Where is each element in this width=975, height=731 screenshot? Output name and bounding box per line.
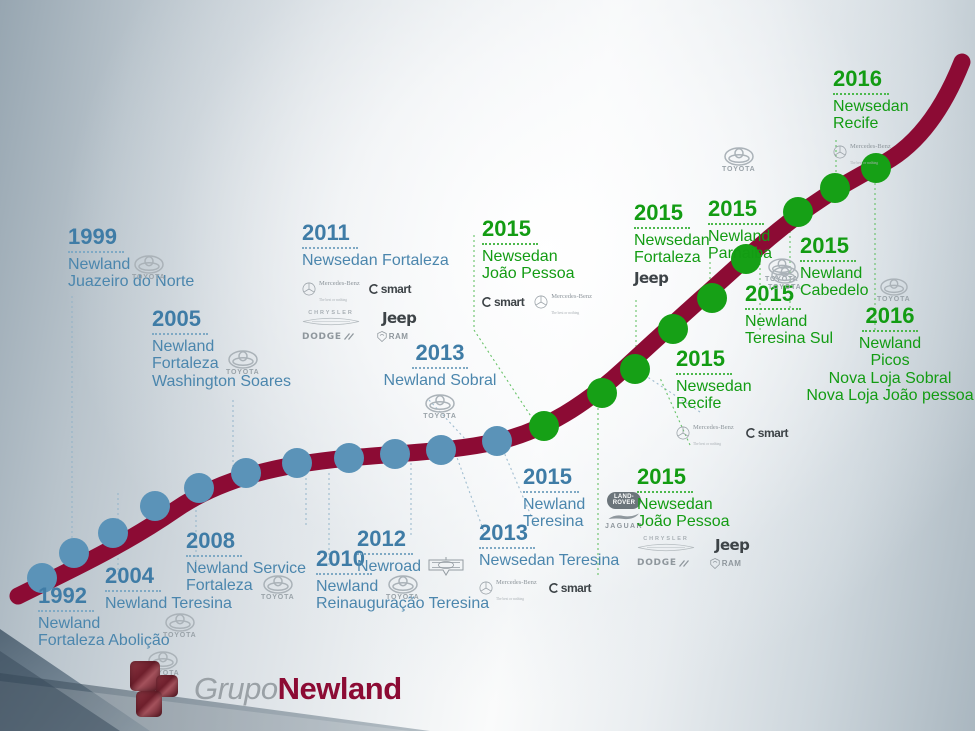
- milestone-divider: [357, 553, 413, 555]
- milestone-divider: [833, 93, 889, 95]
- logo-wordmark: GrupoNewland: [194, 671, 402, 707]
- smart-wordmark: smart: [494, 295, 524, 309]
- milestone-year: 2016: [805, 305, 975, 327]
- logo-mark-icon: [130, 661, 184, 717]
- dodge-wordmark: DODGE: [637, 558, 677, 568]
- toyota-logo-icon: TOYOTA: [722, 147, 756, 173]
- dodge-wordmark: DODGE: [302, 332, 342, 342]
- milestone-year: 2015: [708, 198, 868, 220]
- milestone-divider: [482, 243, 538, 245]
- smart-logo-icon: smart: [746, 426, 788, 440]
- milestone-divider: [38, 610, 94, 612]
- milestone-title: Newsedan Recife: [833, 98, 975, 133]
- toyota-logo-icon: TOYOTA: [423, 394, 457, 420]
- milestone-divider: [708, 223, 764, 225]
- toyota-wordmark: TOYOTA: [261, 594, 295, 601]
- milestone-divider: [186, 555, 242, 557]
- smart-wordmark: smart: [561, 581, 591, 595]
- toyota-wordmark: TOYOTA: [132, 274, 166, 281]
- harley-davidson-logo-icon: [426, 553, 466, 577]
- toyota-wordmark: TOYOTA: [423, 413, 457, 420]
- milestone-brands: TOYOTA: [370, 394, 510, 420]
- mercedes-benz-logo-icon: Mercedes-Benz The best or nothing: [676, 417, 734, 449]
- smart-wordmark: smart: [758, 426, 788, 440]
- milestone-2016-picos[interactable]: 2016 Newland Picos Nova Loja Sobral Nova…: [805, 305, 975, 404]
- milestone-year: 2015: [637, 466, 827, 488]
- milestone-title: Newland Picos Nova Loja Sobral Nova Loja…: [805, 335, 975, 404]
- mercedes-wordmark: Mercedes-Benz The best or nothing: [319, 273, 360, 305]
- chrysler-logo-icon: CHRYSLER: [637, 537, 695, 552]
- mercedes-wordmark: Mercedes-Benz The best or nothing: [693, 417, 734, 449]
- milestone-year: 2015: [800, 235, 960, 257]
- milestone-divider: [634, 227, 690, 229]
- brand-row: CHRYSLER Jeep: [302, 309, 416, 327]
- brand-row: DODGE RAM: [302, 331, 408, 342]
- toyota-logo-icon: TOYOTA: [132, 255, 166, 281]
- toyota-logo-icon: TOYOTA: [261, 575, 295, 601]
- milestone-divider: [479, 547, 535, 549]
- toyota-wordmark: TOYOTA: [386, 594, 420, 601]
- milestone-brands: TOYOTA: [722, 147, 756, 173]
- milestone-divider: [637, 491, 693, 493]
- milestone-brands: TOYOTA: [132, 255, 288, 281]
- milestone-1999[interactable]: 1999 Newland Juazeiro do Norte TOYOTA: [68, 226, 288, 281]
- milestone-divider: [523, 491, 579, 493]
- logo-newland-text: Newland: [278, 671, 402, 706]
- infographic-canvas: 1992 Newland Fortaleza Abolição TOYOTA 2…: [0, 0, 975, 731]
- smart-logo-icon: smart: [549, 581, 591, 595]
- milestone-divider: [800, 260, 856, 262]
- toyota-logo-icon: TOYOTA: [386, 575, 420, 601]
- milestone-2011[interactable]: 2011 Newsedan Fortaleza Mercedes-Benz Th…: [302, 222, 502, 342]
- toyota-logo-icon: TOYOTA: [163, 613, 197, 639]
- jeep-logo-icon: Jeep: [715, 536, 749, 554]
- milestone-year: 1999: [68, 226, 288, 248]
- milestone-divider: [745, 308, 801, 310]
- ram-wordmark: RAM: [722, 559, 742, 568]
- milestone-title: Newsedan João Pessoa: [637, 496, 827, 531]
- milestone-title: Newsedan Fortaleza: [302, 252, 502, 269]
- milestone-title: Newland Sobral: [370, 372, 510, 389]
- dodge-logo-icon: DODGE: [637, 558, 692, 568]
- milestone-divider: [302, 247, 358, 249]
- milestone-brands: TOYOTA: [163, 613, 305, 639]
- milestone-year: 2016: [833, 68, 975, 90]
- milestone-brands: TOYOTA: [877, 278, 911, 303]
- smart-logo-icon: smart: [482, 295, 524, 309]
- milestone-brands: Mercedes-Benz The best or nothing smart: [676, 417, 866, 449]
- milestone-brands: Mercedes-Benz The best or nothing smart …: [302, 273, 502, 342]
- mercedes-wordmark: Mercedes-Benz The best or nothing: [551, 286, 592, 318]
- logo-grupo-text: Grupo: [194, 671, 278, 706]
- mercedes-wordmark: Mercedes-Benz The best or nothing: [496, 572, 537, 604]
- milestone-brands: Mercedes-Benz The best or nothing smart: [479, 572, 699, 604]
- smart-wordmark: smart: [381, 282, 411, 296]
- brand-row: DODGE RAM: [637, 558, 741, 569]
- smart-logo-icon: smart: [369, 282, 411, 296]
- ram-logo-icon: RAM: [377, 331, 409, 342]
- toyota-logo-icon: TOYOTA: [226, 350, 260, 376]
- milestone-2015-joao-pessoa-jeep[interactable]: 2015 Newsedan João Pessoa CHRYSLER Jeep …: [637, 466, 827, 569]
- toyota-wordmark: TOYOTA: [877, 296, 911, 303]
- dodge-logo-icon: DODGE: [302, 332, 357, 342]
- grupo-newland-logo: GrupoNewland: [130, 661, 402, 717]
- milestone-brands: smart Mercedes-Benz The best or nothing: [482, 286, 702, 318]
- chrysler-logo-icon: CHRYSLER: [302, 311, 360, 326]
- toyota-wordmark: TOYOTA: [768, 284, 802, 291]
- milestone-divider: [105, 590, 161, 592]
- milestone-brands: Mercedes-Benz The best or nothing: [833, 136, 975, 168]
- milestone-year: 2013: [370, 342, 510, 364]
- mercedes-benz-logo-icon: Mercedes-Benz The best or nothing: [833, 136, 891, 168]
- brand-row: CHRYSLER Jeep: [637, 536, 749, 554]
- milestone-divider: [152, 333, 208, 335]
- logo-square-3: [136, 691, 162, 717]
- toyota-logo-icon: TOYOTA: [768, 266, 802, 291]
- milestone-brands: TOYOTA: [768, 266, 802, 291]
- toyota-wordmark: TOYOTA: [163, 632, 197, 639]
- milestone-brands: CHRYSLER Jeep DODGE RAM: [637, 536, 827, 569]
- ram-logo-icon: RAM: [710, 558, 742, 569]
- milestone-2013-sobral[interactable]: 2013 Newland Sobral TOYOTA: [370, 342, 510, 420]
- toyota-wordmark: TOYOTA: [226, 369, 260, 376]
- jeep-logo-icon: Jeep: [634, 269, 668, 287]
- mercedes-benz-logo-icon: Mercedes-Benz The best or nothing: [479, 572, 537, 604]
- milestone-2016-recife[interactable]: 2016 Newsedan Recife Mercedes-Benz The b…: [833, 68, 975, 168]
- milestone-brands: TOYOTA: [226, 350, 382, 376]
- jeep-logo-icon: Jeep: [382, 309, 416, 327]
- brand-row: Mercedes-Benz The best or nothing smart: [302, 273, 411, 305]
- toyota-wordmark: TOYOTA: [722, 166, 756, 173]
- mercedes-wordmark: Mercedes-Benz The best or nothing: [850, 136, 891, 168]
- milestone-divider: [862, 330, 918, 332]
- mercedes-benz-logo-icon: Mercedes-Benz The best or nothing: [534, 286, 592, 318]
- toyota-logo-icon: TOYOTA: [877, 278, 911, 303]
- mercedes-benz-logo-icon: Mercedes-Benz The best or nothing: [302, 273, 360, 305]
- milestone-divider: [68, 251, 124, 253]
- milestone-divider: [676, 373, 732, 375]
- ram-wordmark: RAM: [389, 332, 409, 341]
- milestone-divider: [412, 367, 468, 369]
- milestone-year: 2011: [302, 222, 502, 244]
